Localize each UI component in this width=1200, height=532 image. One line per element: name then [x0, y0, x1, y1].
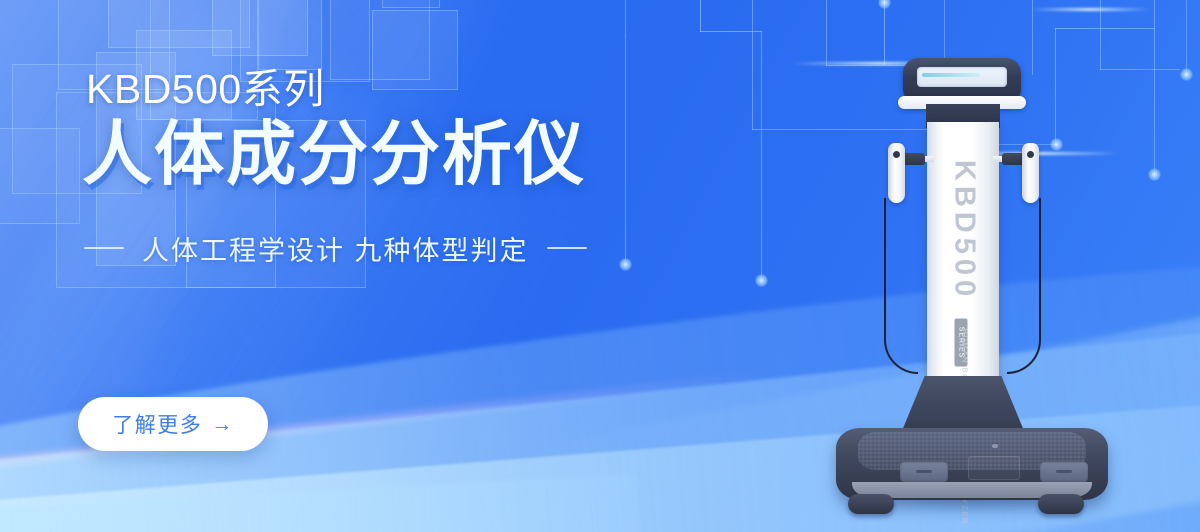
- device-leveling-foot-left: [848, 494, 894, 514]
- deco-rect-13: [0, 128, 80, 224]
- device-leveling-foot-right: [1038, 494, 1084, 514]
- subtitle-row: 人体工程学设计 九种体型判定: [84, 229, 722, 268]
- circuit-glow: [1030, 8, 1150, 11]
- device-handle-button-right: [1027, 151, 1034, 158]
- device-handle-left: [888, 143, 905, 203]
- arrow-right-icon: →: [211, 414, 234, 435]
- circuit-node: [1180, 68, 1193, 81]
- circuit-node: [755, 274, 768, 287]
- page-title: 人体成分分析仪: [82, 117, 722, 193]
- device-footplate: [858, 432, 1086, 470]
- circuit-node: [1148, 168, 1161, 181]
- device-cable-right: [1007, 198, 1041, 374]
- circuit-line: [700, 31, 762, 32]
- circuit-line: [752, 0, 753, 130]
- rule-left-icon: [84, 247, 124, 249]
- device-foot-electrode-right: [1040, 462, 1088, 482]
- device-base-platform: [836, 428, 1108, 500]
- device-center-plate: [968, 456, 1020, 480]
- device-indicator-led: [992, 444, 998, 448]
- deco-rect-15: [382, 0, 440, 8]
- circuit-line: [761, 31, 762, 281]
- deco-rect-14: [258, 0, 322, 70]
- product-hero-banner: KBD500 SERIES HUMAN BODY COMPOSITION ANA…: [0, 0, 1200, 532]
- circuit-line: [1186, 0, 1187, 75]
- rule-right-icon: [547, 247, 587, 249]
- learn-more-label: 了解更多: [112, 409, 202, 439]
- circuit-node: [878, 0, 891, 9]
- circuit-line: [700, 0, 701, 32]
- circuit-line: [1055, 28, 1155, 29]
- deco-rect-4: [212, 0, 308, 56]
- device-cable-left: [884, 198, 918, 374]
- ribbon-4: [0, 474, 643, 532]
- device-screen: [917, 67, 1007, 87]
- hero-subtitle: 人体工程学设计 九种体型判定: [142, 229, 529, 268]
- device-foot-electrode-left: [900, 462, 948, 482]
- body-composition-analyzer-illustration: KBD500 SERIES HUMAN BODY COMPOSITION ANA…: [826, 46, 1116, 516]
- product-series-label: KBD500系列: [86, 68, 722, 111]
- device-brand-label: KBD500: [948, 136, 981, 326]
- circuit-line: [625, 0, 626, 36]
- deco-rect-2: [108, 0, 250, 48]
- circuit-line: [1154, 0, 1155, 175]
- device-handle-button-left: [893, 151, 900, 158]
- hero-copy: KBD500系列 人体成分分析仪 人体工程学设计 九种体型判定: [82, 68, 722, 268]
- learn-more-button[interactable]: 了解更多 →: [78, 397, 268, 451]
- device-handle-right: [1022, 143, 1039, 203]
